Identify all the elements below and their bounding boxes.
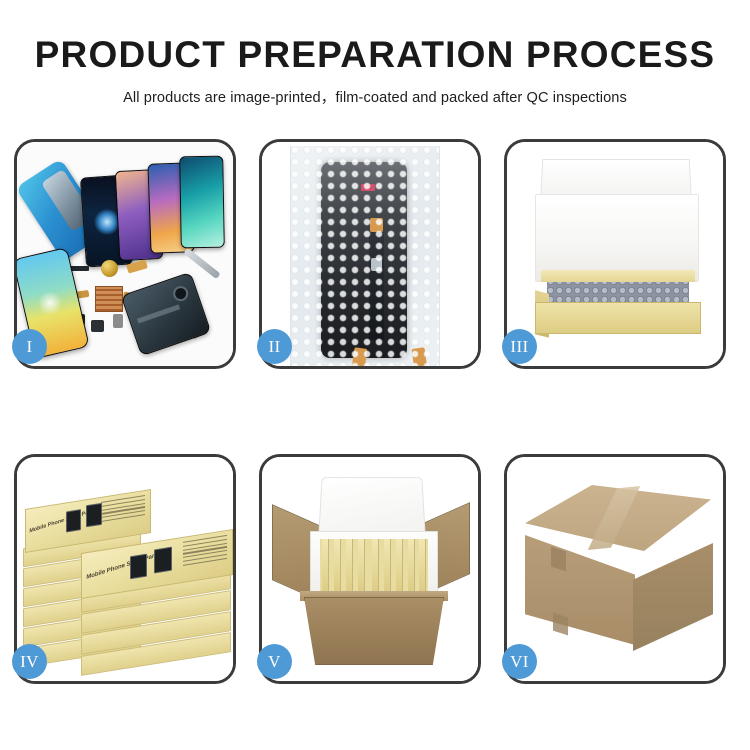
gold-coil-part: [101, 260, 118, 277]
box-art-screen-2: [154, 547, 172, 574]
step-panel-3[interactable]: [504, 139, 726, 369]
process-steps-grid: I II: [0, 139, 750, 684]
step-panel-2[interactable]: [259, 139, 481, 369]
box-spec-lines-front: [183, 535, 227, 568]
step-badge-5: V: [257, 644, 292, 679]
step-6-image: [507, 457, 723, 681]
header: PRODUCT PREPARATION PROCESS All products…: [0, 0, 750, 107]
camera-module-icon: [171, 284, 190, 303]
process-row-top: I II: [0, 139, 750, 369]
step-badge-6: VI: [502, 644, 537, 679]
gold-box-front-wall: [535, 302, 701, 334]
infographic-page: PRODUCT PREPARATION PROCESS All products…: [0, 0, 750, 750]
gold-boxes-inside: [320, 539, 428, 591]
box-art-screen-1: [130, 554, 147, 580]
white-foam-insert: [535, 194, 699, 282]
small-component-2: [91, 320, 104, 332]
page-subtitle: All products are image-printed，film-coat…: [0, 73, 750, 107]
step-1-image: [17, 142, 233, 366]
bubble-texture: [291, 146, 439, 366]
box-art-screen-4: [86, 503, 102, 528]
phone-screen-fan: [83, 156, 223, 268]
step-4-image: Mobile Phone Spare Parts Mobile Phone Sp…: [17, 457, 233, 681]
retail-box-stack: Mobile Phone Spare Parts Mobile Phone Sp…: [19, 475, 233, 675]
copper-grid-chip-part: [95, 286, 123, 312]
process-row-bottom: Mobile Phone Spare Parts Mobile Phone Sp…: [0, 454, 750, 684]
step-panel-4[interactable]: Mobile Phone Spare Parts Mobile Phone Sp…: [14, 454, 236, 684]
step-panel-5[interactable]: [259, 454, 481, 684]
step-badge-1: I: [12, 329, 47, 364]
box-label-front: Mobile Phone Spare Parts: [86, 552, 160, 581]
step-badge-4: IV: [12, 644, 47, 679]
box-spec-lines-back: [101, 495, 145, 525]
step-5-image: [262, 457, 478, 681]
carton-front-wall: [304, 597, 444, 665]
step-2-image: [262, 142, 478, 366]
step-panel-6[interactable]: [504, 454, 726, 684]
bubble-wrap-bag: [290, 146, 440, 366]
page-title: PRODUCT PREPARATION PROCESS: [0, 0, 750, 73]
box-art-screen-3: [66, 509, 81, 532]
step-3-image: [507, 142, 723, 366]
step-panel-1[interactable]: [14, 139, 236, 369]
step-badge-3: III: [502, 329, 537, 364]
gold-box-lip: [541, 270, 695, 282]
foam-box-lid: [318, 477, 426, 537]
step-badge-2: II: [257, 329, 292, 364]
small-component-3: [113, 314, 123, 328]
phone-screen-teal: [179, 156, 225, 249]
internal-strip: [137, 304, 180, 323]
